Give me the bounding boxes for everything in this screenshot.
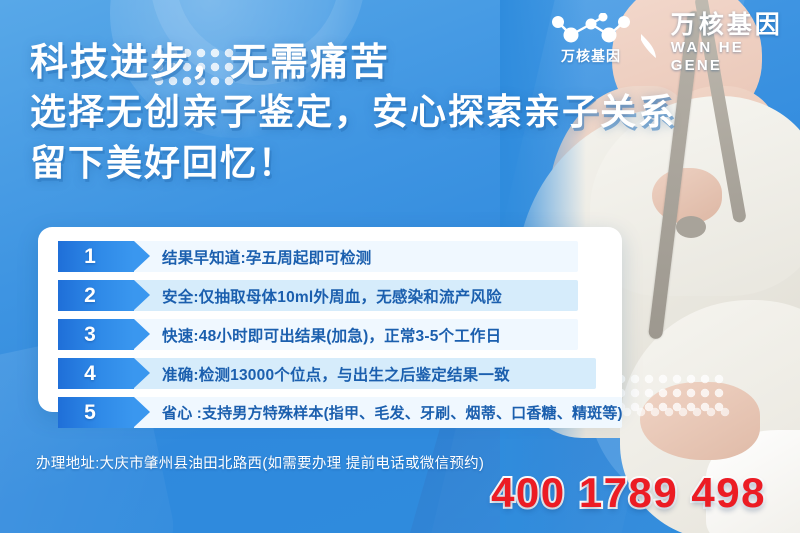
feature-rows: 1 结果早知道:孕五周起即可检测 2 安全:仅抽取母体10ml外周血，无感染和流… [38, 241, 622, 428]
feature-number: 1 [84, 246, 108, 267]
feature-text: 快速:48小时即可出结果(加急)，正常3-5个工作日 [162, 324, 501, 346]
office-address: 办理地址:大庆市肇州县油田北路西(如需要办理 提前电话或微信预约) [36, 452, 484, 473]
feature-row: 2 安全:仅抽取母体10ml外周血，无感染和流产风险 [38, 280, 622, 311]
feature-number: 2 [84, 285, 108, 306]
feature-number-badge: 5 [58, 397, 134, 428]
feature-row: 5 省心 :支持男方特殊样本(指甲、毛发、牙刷、烟蒂、口香糖、精斑等) [38, 397, 622, 428]
feature-text: 准确:检测13000个位点，与出生之后鉴定结果一致 [162, 363, 510, 385]
contact-phone-number[interactable]: 400 1789 498 [491, 469, 766, 517]
feature-number: 4 [84, 363, 108, 384]
feature-row: 4 准确:检测13000个位点，与出生之后鉴定结果一致 [38, 358, 622, 389]
feature-row: 3 快速:48小时即可出结果(加急)，正常3-5个工作日 [38, 319, 622, 350]
logo-name-cn: 万核基因 [671, 12, 790, 39]
headline-line-1: 科技进步，无需痛苦 [30, 40, 700, 86]
feature-text: 省心 :支持男方特殊样本(指甲、毛发、牙刷、烟蒂、口香糖、精斑等) [162, 402, 623, 423]
feature-row: 1 结果早知道:孕五周起即可检测 [38, 241, 622, 272]
feature-number-badge: 2 [58, 280, 134, 311]
promo-banner: 万核基因 万核基因 WAN HE GENE 科技进步，无需痛苦 选择无创亲子鉴定… [0, 0, 800, 533]
feature-number: 5 [84, 402, 108, 423]
headline-block: 科技进步，无需痛苦 选择无创亲子鉴定，安心探索亲子关系 留下美好回忆！ [30, 40, 700, 188]
headline-line-3: 留下美好回忆！ [30, 138, 700, 188]
headline-line-2: 选择无创亲子鉴定，安心探索亲子关系 [30, 86, 700, 138]
feature-number-badge: 4 [58, 358, 134, 389]
feature-text: 结果早知道:孕五周起即可检测 [162, 246, 371, 268]
feature-text: 安全:仅抽取母体10ml外周血，无感染和流产风险 [162, 285, 502, 307]
feature-number-badge: 3 [58, 319, 134, 350]
feature-number: 3 [84, 324, 108, 345]
feature-number-badge: 1 [58, 241, 134, 272]
feature-list-card: 1 结果早知道:孕五周起即可检测 2 安全:仅抽取母体10ml外周血，无感染和流… [38, 227, 622, 412]
stethoscope-joint [676, 216, 706, 238]
dot-grid-right-lower [620, 405, 732, 421]
